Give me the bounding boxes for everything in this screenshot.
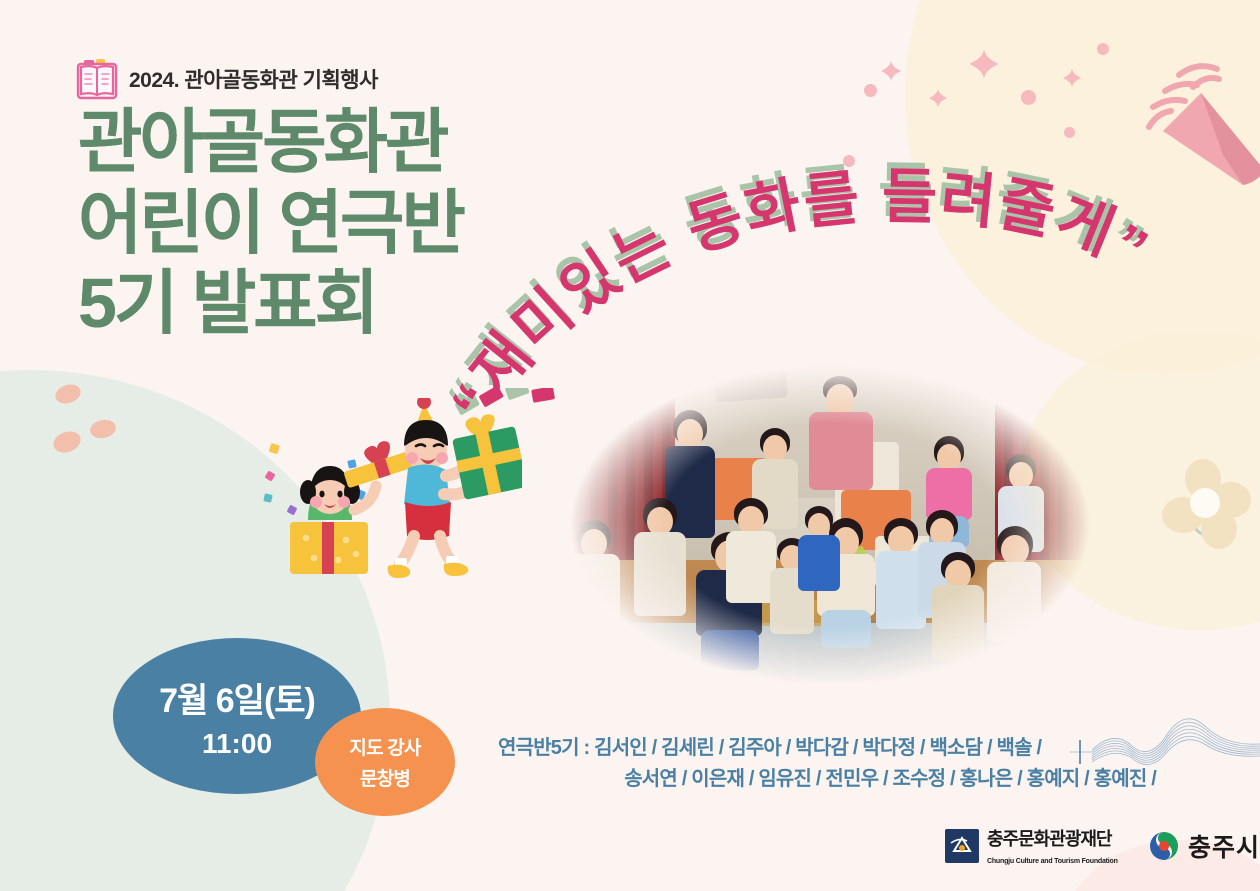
title-line-1: 관아골동화관: [78, 108, 463, 177]
dot-decoration: [864, 84, 877, 97]
blob-decoration: [50, 428, 83, 456]
wave-lines-decoration: [1070, 706, 1260, 776]
foundation-logo-text: 충주문화관광재단 Chungju Culture and Tourism Fou…: [987, 830, 1126, 868]
poster-kicker: 2024. 관아골동화관 기획행사: [129, 64, 378, 94]
dot-decoration: [1021, 90, 1036, 105]
star-icon: [968, 48, 1000, 80]
dot-decoration: [1097, 43, 1109, 55]
instructor-figure: [807, 376, 877, 506]
star-icon: [1062, 68, 1082, 88]
poster-header: 2024. 관아골동화관 기획행사: [76, 57, 378, 101]
page-title: 관아골동화관 어린이 연극반 5기 발표회: [78, 108, 463, 338]
boy-with-gift: [388, 398, 522, 578]
footer-logos: 충주문화관광재단 Chungju Culture and Tourism Fou…: [945, 829, 1260, 868]
city-logo-icon: [1148, 830, 1180, 867]
group-photo: [545, 350, 1115, 700]
dot-decoration: [1064, 127, 1075, 138]
blob-decoration: [53, 381, 83, 406]
foundation-logo-icon: [945, 829, 979, 868]
logo-chungju-city: 충주시: [1148, 830, 1260, 867]
event-poster: 2024. 관아골동화관 기획행사 관아골동화관 어린이 연극반 5기 발표회 …: [0, 0, 1260, 891]
event-date: 7월 6일(토): [159, 673, 315, 722]
foundation-name-en: Chungju Culture and Tourism Foundation: [987, 858, 1118, 865]
logo-chungju-culture-tourism-foundation: 충주문화관광재단 Chungju Culture and Tourism Fou…: [945, 829, 1126, 868]
city-logo-text: 충주시: [1188, 835, 1260, 861]
title-line-3: 5기 발표회: [78, 269, 463, 338]
blob-decoration: [88, 417, 117, 440]
open-book-icon: [76, 57, 118, 101]
city-name-ko: 충주시: [1188, 834, 1260, 862]
foundation-name-ko: 충주문화관광재단: [987, 829, 1111, 849]
event-time: 11:00: [202, 728, 272, 760]
teacher-role: 지도 강사: [349, 733, 420, 760]
flower-icon: [1155, 455, 1251, 551]
teacher-badge: 지도 강사 문창병: [315, 708, 455, 816]
party-popper-icon: [1105, 35, 1260, 185]
teacher-name: 문창병: [360, 764, 410, 791]
star-icon: [928, 88, 948, 108]
gift-kids-illustration: [262, 398, 522, 588]
title-line-2: 어린이 연극반: [78, 189, 463, 258]
star-icon: [880, 60, 902, 82]
